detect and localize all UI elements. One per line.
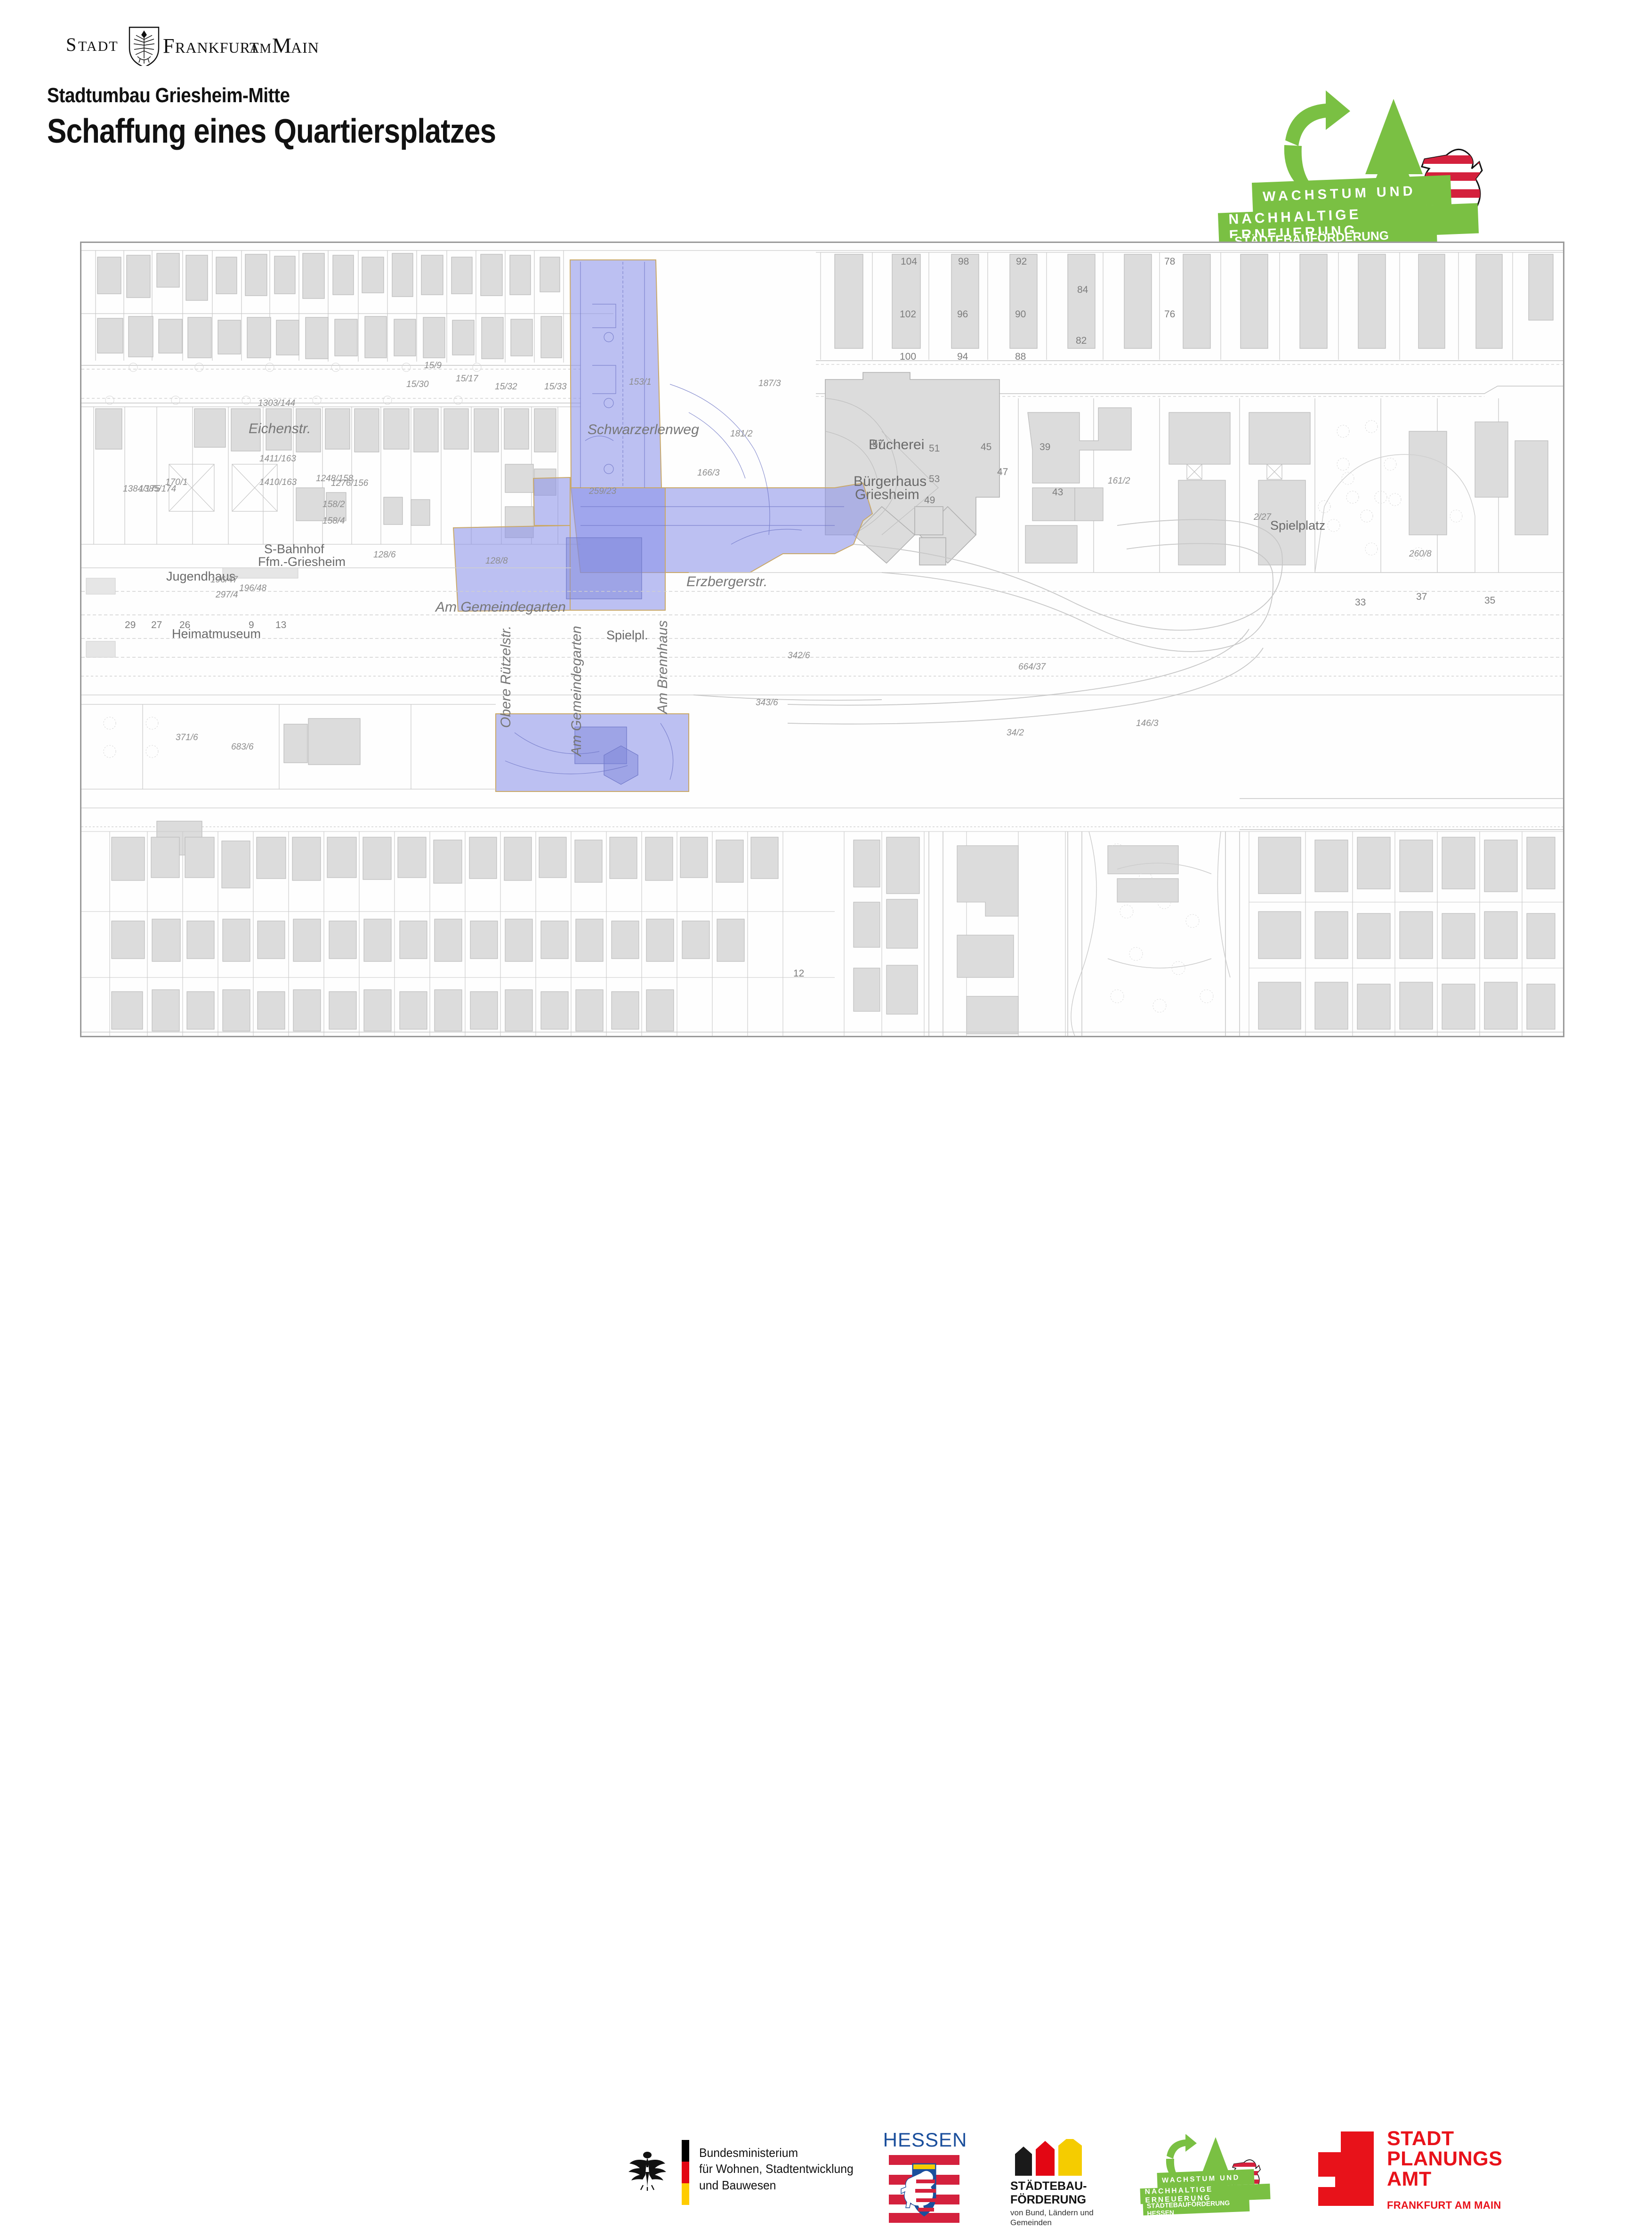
svg-text:AIN: AIN: [291, 39, 319, 56]
frankfurt-eagle-crest-icon: [129, 27, 159, 66]
spa-sub: FRANKFURT AM MAIN: [1387, 2199, 1501, 2212]
german-flag-bar-icon: [682, 2140, 689, 2205]
three-houses-icon: [1011, 2139, 1087, 2176]
hessen-wordmark: HESSEN: [880, 2129, 970, 2151]
project-subtitle: Stadtumbau Griesheim-Mitte: [47, 84, 506, 107]
hessen-logo: HESSEN: [880, 2129, 970, 2223]
bmwsb-line1: Bundesministerium: [699, 2145, 854, 2161]
svg-text:AM: AM: [250, 41, 272, 56]
spa-line2: PLANUNGS: [1387, 2149, 1502, 2169]
spa-line1: STADT: [1387, 2129, 1502, 2149]
cadastral-map[interactable]: Eichenstr. Schwarzerlenweg Erzbergerstr.…: [80, 242, 1564, 1037]
stadtplanungsamt-mark-icon: [1318, 2131, 1374, 2206]
staedtebaufoerderung-logo: STÄDTEBAU- FÖRDERUNG von Bund, Ländern u…: [1007, 2139, 1130, 2214]
bmwsb-line3: und Bauwesen: [699, 2177, 854, 2193]
page-title: Schaffung eines Quartiersplatzes: [47, 112, 496, 151]
svg-text:TADT: TADT: [78, 39, 119, 54]
map-drawing: [81, 243, 1563, 1036]
bundesadler-icon: [626, 2147, 669, 2191]
svg-text:M: M: [272, 33, 291, 57]
staedtebau-sub-line1: von Bund, Ländern und: [1010, 2208, 1094, 2218]
stadtplanungsamt-logo: STADT PLANUNGS AMT FRANKFURT AM MAIN: [1318, 2131, 1525, 2220]
wachstum-logo-small: WACHSTUM UND NACHHALTIGE ERNEUERUNG STÄD…: [1139, 2134, 1295, 2219]
svg-text:F: F: [163, 34, 174, 57]
staedtebau-sub-line2: Gemeinden: [1010, 2218, 1094, 2228]
spa-line3: AMT: [1387, 2169, 1502, 2189]
staedtebau-title-line1: STÄDTEBAU-: [1010, 2180, 1087, 2193]
title-block: Stadtumbau Griesheim-Mitte Schaffung ein…: [47, 84, 569, 151]
svg-text:S: S: [66, 34, 77, 55]
staedtebau-title-line2: FÖRDERUNG: [1010, 2193, 1087, 2207]
bmwsb-line2: für Wohnen, Stadtentwicklung: [699, 2161, 854, 2177]
svg-text:RANKFURT: RANKFURT: [175, 39, 259, 56]
bundesministerium-logo: Bundesministerium für Wohnen, Stadtentwi…: [626, 2139, 871, 2205]
footer-logo-bar: Bundesministerium für Wohnen, Stadtentwi…: [0, 1062, 1652, 1168]
hessen-coat-of-arms-icon: [889, 2153, 959, 2223]
city-logo: S TADT F RANKFURT AM M AIN: [66, 19, 377, 66]
